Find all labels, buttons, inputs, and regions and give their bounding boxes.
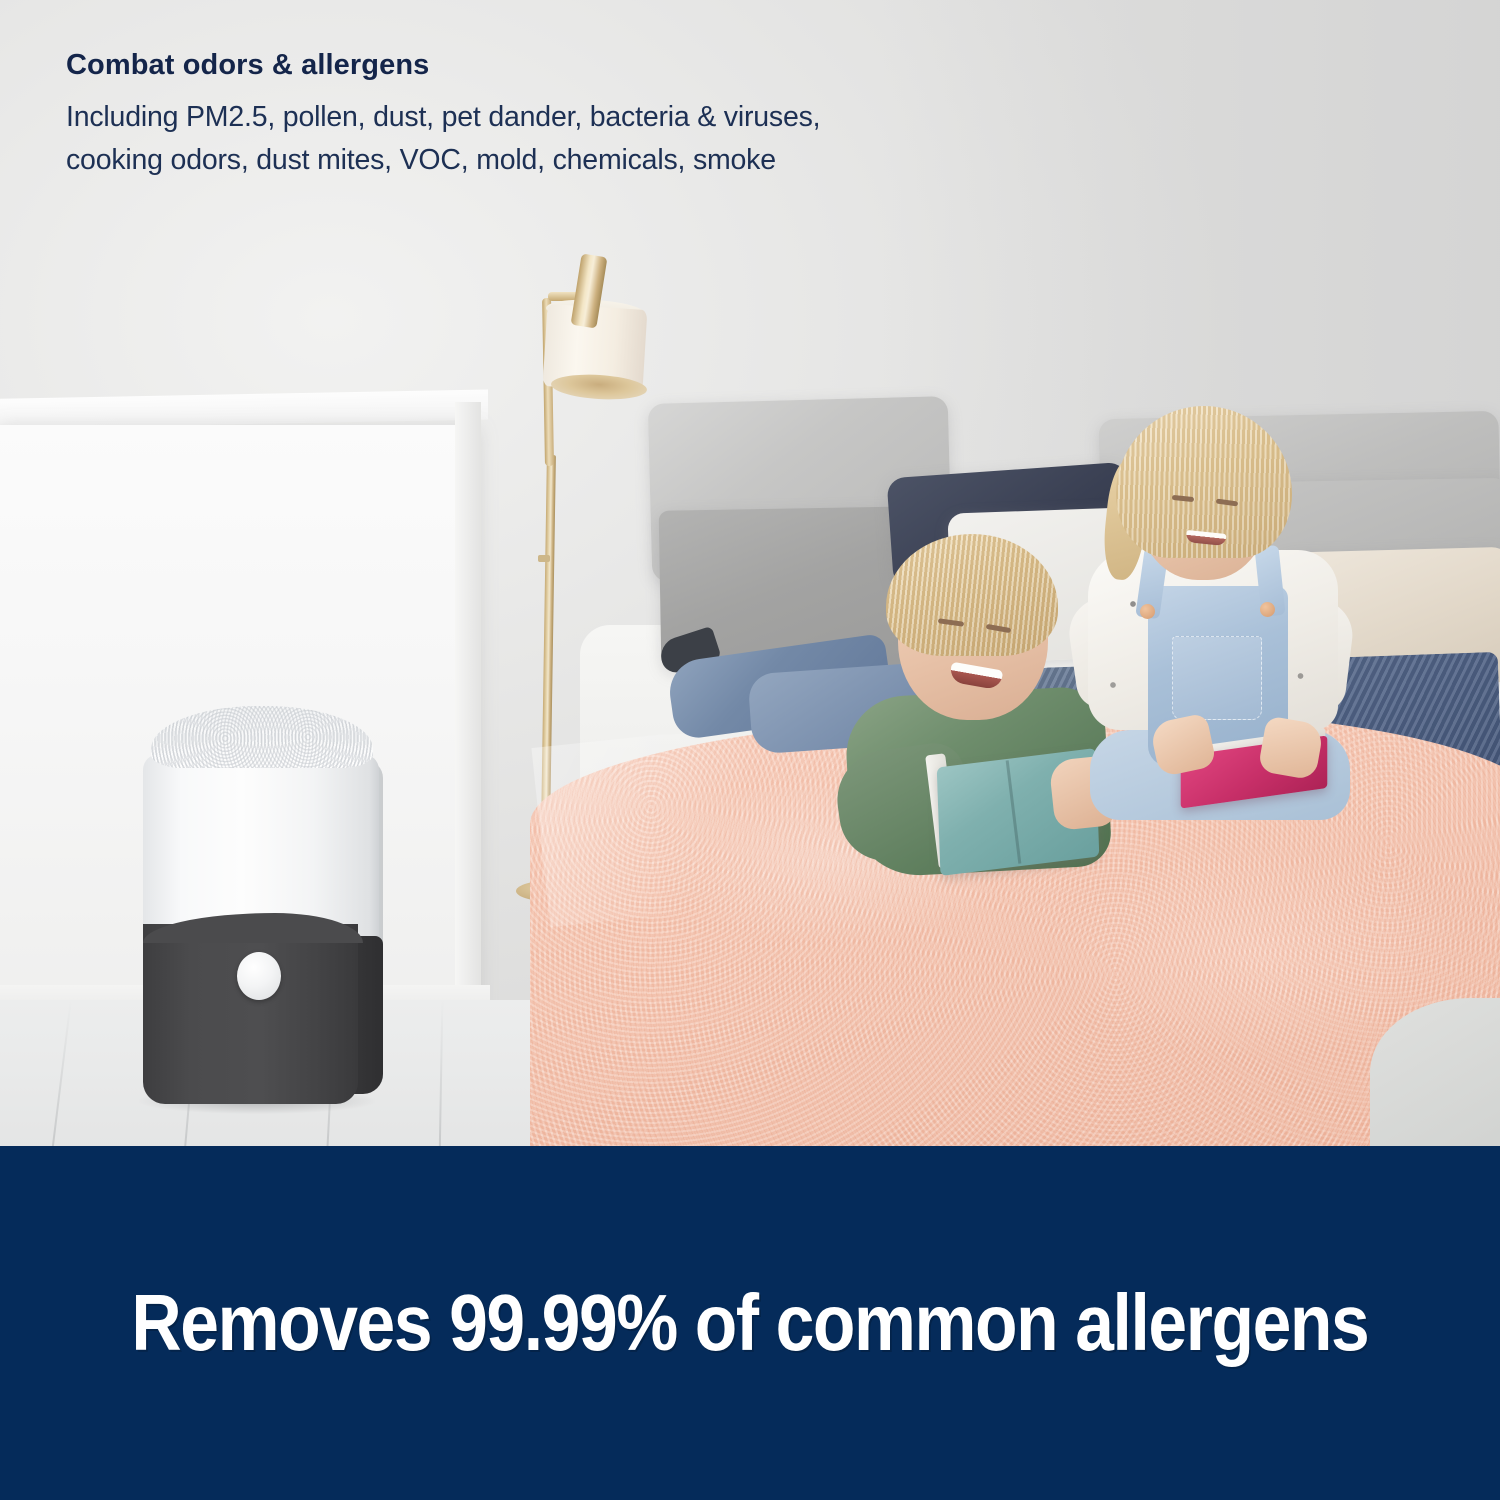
girl-overall-button-left (1140, 604, 1155, 619)
purifier-white-body (143, 754, 379, 936)
purifier-power-button[interactable] (237, 952, 281, 1000)
claim-banner: Removes 99.99% of common allergens (0, 1146, 1500, 1500)
feature-copy-block: Combat odors & allergens Including PM2.5… (66, 48, 1046, 182)
claim-banner-text: Removes 99.99% of common allergens (132, 1277, 1369, 1369)
air-purifier (133, 706, 383, 1106)
purifier-grille-icon (151, 706, 373, 768)
feature-description-line-2: cooking odors, dust mites, VOC, mold, ch… (66, 139, 1046, 182)
lamp-pole-joint (538, 555, 550, 562)
page-title: Combat odors & allergens (66, 48, 1046, 83)
feature-description: Including PM2.5, pollen, dust, pet dande… (66, 96, 1046, 183)
feature-description-line-1: Including PM2.5, pollen, dust, pet dande… (66, 96, 1046, 139)
purifier-top (151, 706, 373, 768)
purifier-prefilter (143, 924, 358, 1104)
girl-with-tablet (1020, 400, 1420, 800)
wall-panel-edge (455, 402, 481, 1027)
girl-overall-pocket (1172, 636, 1262, 720)
girl-overall-button-right (1260, 602, 1275, 617)
